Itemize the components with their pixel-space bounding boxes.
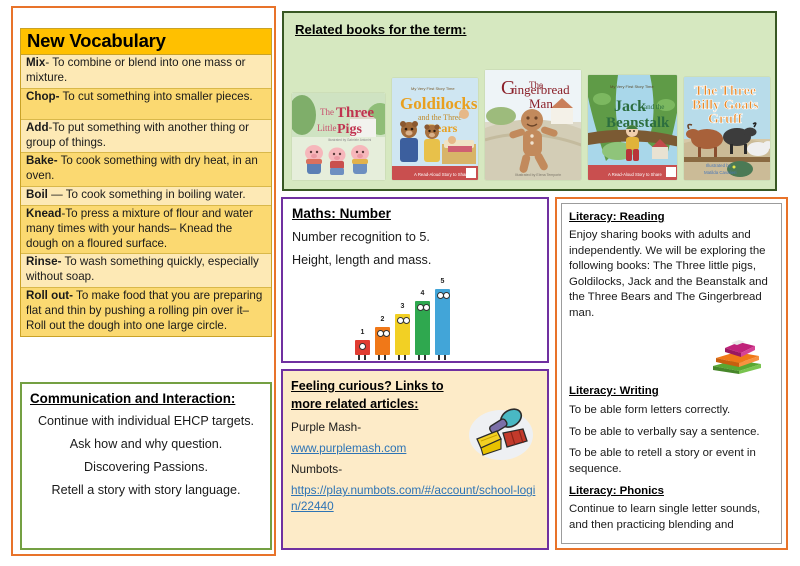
literacy-phonics-body: Continue to learn single letter sounds, … [569, 502, 774, 533]
numberblock-1: 1 [355, 340, 370, 355]
svg-text:A Read-Aloud Story to Share: A Read-Aloud Story to Share [414, 172, 470, 177]
three-billy-goats-gruff-cover-art: The Three Billy Goats Gruff [684, 77, 770, 180]
vocabulary-definition: To cook something with dry heat, in an o… [26, 154, 258, 182]
communication-line: Continue with individual EHCP targets. [28, 412, 264, 431]
book-cover-jack-and-the-beanstalk: My Very First Story Time Jack and the Be… [588, 75, 677, 180]
vocabulary-row: Chop- To cut something into smaller piec… [21, 89, 271, 120]
svg-text:Jack: Jack [614, 98, 646, 115]
vocabulary-row: Roll out- To make food that you are prep… [21, 288, 271, 335]
numberblock-label: 2 [381, 316, 385, 323]
book-cover-the-gingerbread-man: The G ingerbread Man [485, 70, 581, 180]
svg-text:Illustrated by Elena Temporin: Illustrated by Elena Temporin [515, 173, 561, 177]
vocabulary-definition: — To cook something in boiling water. [48, 188, 246, 201]
related-books-panel: Related books for the term: The Three Li… [282, 11, 777, 191]
vocabulary-definition: To cut something into smaller pieces. [59, 90, 252, 103]
new-vocabulary-title: New Vocabulary [21, 29, 271, 55]
numberblock-3: 3 [395, 314, 410, 355]
vocabulary-definition: -To press a mixture of flour and water m… [26, 207, 253, 250]
vocabulary-definition: -To put something with another thing or … [26, 121, 249, 149]
literacy-writing-heading: Literacy: Writing [569, 385, 774, 397]
vocabulary-row: Mix- To combine or blend into one mass o… [21, 55, 271, 89]
communication-title: Communication and Interaction: [30, 391, 264, 407]
magnifying-glass-books-icon [467, 405, 535, 463]
communication-line: Retell a story with story language. [28, 481, 264, 500]
svg-text:Matilda Cavalieri: Matilda Cavalieri [704, 170, 736, 175]
vocabulary-definition: - To combine or blend into one mass or m… [26, 56, 246, 84]
svg-text:Illustrated by: Illustrated by [706, 163, 732, 168]
book-cover-the-three-little-pigs: The Three Little Pigs Illustrated by Gab… [292, 93, 385, 180]
book-stack-icon [709, 332, 763, 374]
vocabulary-term: Knead [26, 207, 61, 220]
svg-text:The: The [320, 107, 334, 117]
svg-text:A Read-Aloud Story to Share: A Read-Aloud Story to Share [608, 172, 662, 177]
maths-title: Maths: Number [292, 206, 538, 221]
maths-line: Number recognition to 5. [292, 229, 538, 246]
feeling-curious-title: Feeling curious? Links to more related a… [291, 377, 467, 414]
svg-text:The Three: The Three [694, 84, 756, 99]
svg-text:My Very First Story Time: My Very First Story Time [411, 86, 455, 91]
vocabulary-row: Bake- To cook something with dry heat, i… [21, 153, 271, 187]
numberblock-label: 3 [401, 303, 405, 310]
the-three-little-pigs-cover-art: The Three Little Pigs Illustrated by Gab… [292, 93, 385, 180]
gingerbread-man-cover-art: The G ingerbread Man [485, 70, 581, 180]
vocabulary-term: Chop- [26, 90, 59, 103]
svg-text:Man: Man [529, 96, 553, 111]
maths-line: Height, length and mass. [292, 252, 538, 269]
svg-text:Gruff: Gruff [708, 112, 743, 127]
numberblock-label: 1 [361, 329, 365, 336]
numberblock-2: 2 [375, 327, 390, 355]
svg-text:Little: Little [317, 123, 337, 133]
vocabulary-term: Roll out- [26, 289, 73, 302]
numberblock-label: 5 [441, 278, 445, 285]
communication-line: Discovering Passions. [28, 458, 264, 477]
vocabulary-definition: To wash something quickly, especially wi… [26, 255, 259, 283]
vocabulary-term: Add [26, 121, 49, 134]
vocabulary-term: Boil [26, 188, 48, 201]
communication-and-interaction-box: Communication and Interaction: Continue … [20, 382, 272, 550]
literacy-reading-heading: Literacy: Reading [569, 211, 774, 223]
vocabulary-row: Rinse- To wash something quickly, especi… [21, 254, 271, 288]
svg-text:ingerbread: ingerbread [514, 82, 570, 97]
literacy-writing-line: To be able to verbally say a sentence. [569, 425, 774, 441]
numbots-label: Numbots- [291, 462, 539, 477]
new-vocabulary-table: New Vocabulary Mix- To combine or blend … [20, 28, 272, 337]
literacy-inner-box: Literacy: Reading Enjoy sharing books wi… [561, 203, 782, 544]
vocabulary-term: Rinse- [26, 255, 61, 268]
book-cover-list: The Three Little Pigs Illustrated by Gab… [292, 60, 770, 180]
numberblock-label: 4 [421, 290, 425, 297]
literacy-phonics-heading: Literacy: Phonics [569, 485, 774, 497]
book-cover-the-three-billy-goats-gruff: The Three Billy Goats Gruff [684, 77, 770, 180]
vocabulary-term: Bake- [26, 154, 58, 167]
vocabulary-row: Knead-To press a mixture of flour and wa… [21, 206, 271, 254]
communication-line: Ask how and why question. [28, 435, 264, 454]
svg-text:and the: and the [644, 103, 664, 111]
svg-text:Billy Goats: Billy Goats [692, 98, 759, 113]
left-column-frame: New Vocabulary Mix- To combine or blend … [11, 6, 276, 556]
vocabulary-row: Boil — To cook something in boiling wate… [21, 187, 271, 206]
vocabulary-term: Mix [26, 56, 45, 69]
numberblock-5: 5 [435, 289, 450, 355]
svg-text:Pigs: Pigs [337, 122, 362, 137]
svg-text:Three: Three [336, 105, 374, 121]
jack-and-the-beanstalk-cover-art: My Very First Story Time Jack and the Be… [588, 75, 677, 180]
related-books-title: Related books for the term: [295, 22, 775, 38]
literacy-reading-body: Enjoy sharing books with adults and inde… [569, 228, 774, 321]
maths-number-panel: Maths: Number Number recognition to 5. H… [281, 197, 549, 363]
vocabulary-row: Add-To put something with another thing … [21, 120, 271, 154]
literacy-writing-line: To be able form letters correctly. [569, 403, 774, 419]
numbots-link[interactable]: https://play.numbots.com/#/account/schoo… [291, 483, 539, 514]
svg-text:My Very First Story Time: My Very First Story Time [610, 84, 654, 89]
numberblocks-illustration: 1 2 3 4 [355, 277, 479, 355]
feeling-curious-panel: Feeling curious? Links to more related a… [281, 369, 549, 550]
numberblock-4: 4 [415, 301, 430, 355]
literacy-writing-line: To be able to retell a story or event in… [569, 446, 774, 477]
literacy-panel: Literacy: Reading Enjoy sharing books wi… [555, 197, 788, 550]
svg-text:Beanstalk: Beanstalk [606, 115, 670, 131]
worksheet-page: New Vocabulary Mix- To combine or blend … [0, 0, 800, 566]
goldilocks-cover-art: My Very First Story Time Goldilocks and … [392, 78, 478, 180]
book-cover-goldilocks-and-the-three-bears: My Very First Story Time Goldilocks and … [392, 78, 478, 180]
svg-text:Illustrated by Gabriele Antoni: Illustrated by Gabriele Antonini [328, 138, 372, 142]
